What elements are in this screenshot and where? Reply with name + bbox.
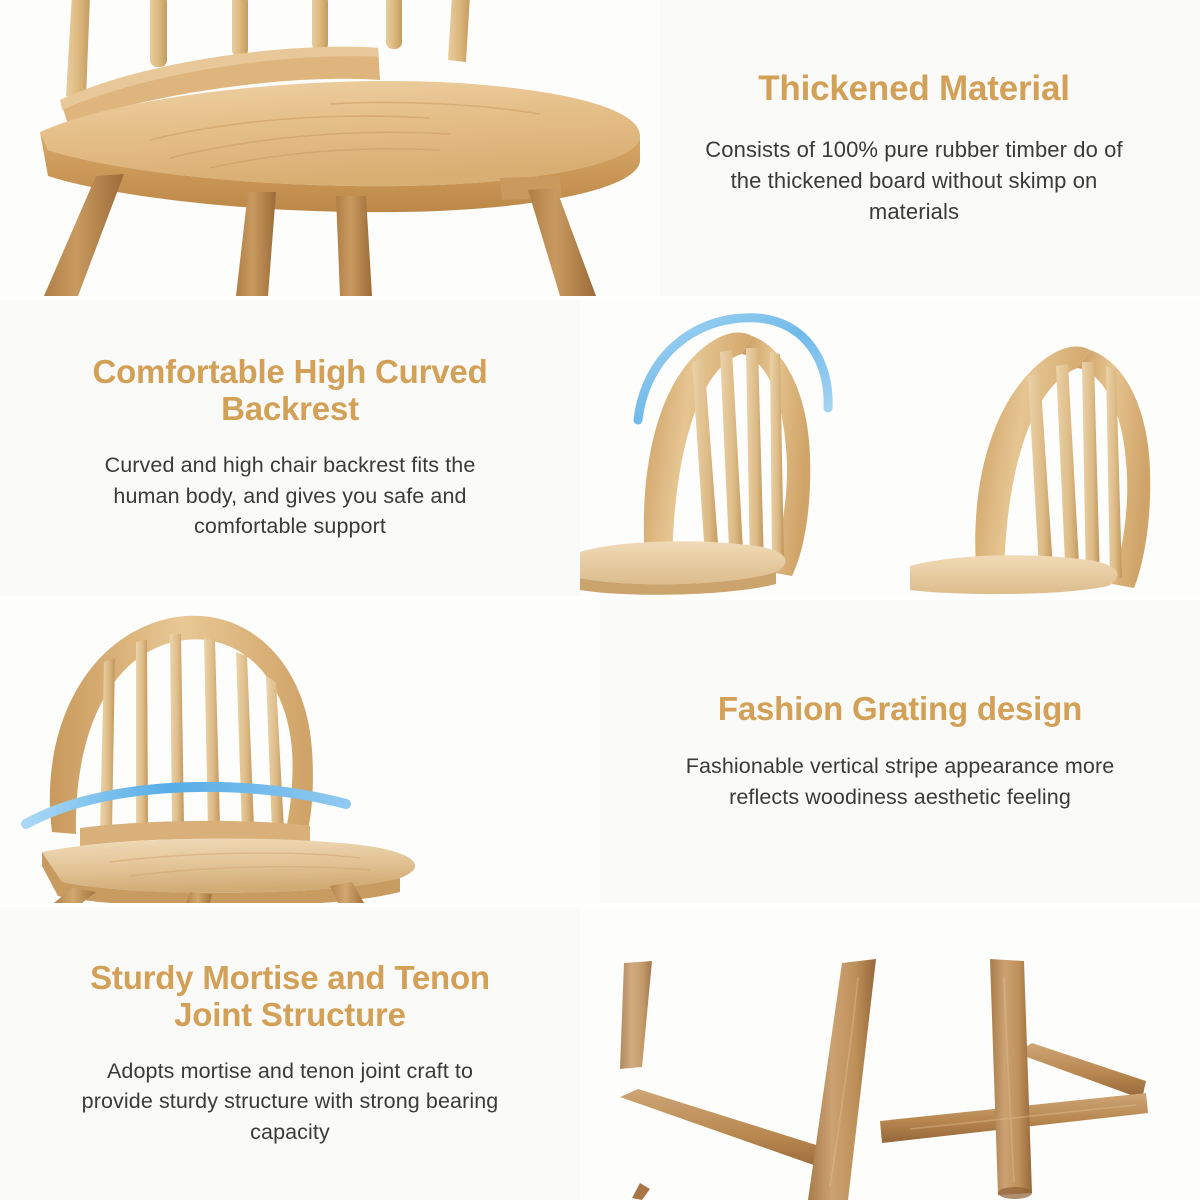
panel-4-headline: Sturdy Mortise and Tenon Joint Structure xyxy=(60,960,520,1034)
full-chair-illustration xyxy=(0,600,600,903)
curved-backrest-illustration xyxy=(580,300,1200,596)
panel-3-headline: Fashion Grating design xyxy=(718,691,1082,728)
leg-joint-closeup-illustration xyxy=(580,907,1200,1200)
panel-1-headline: Thickened Material xyxy=(758,69,1070,108)
panel-3-copy: Fashion Grating design Fashionable verti… xyxy=(600,691,1200,813)
panel-1-image xyxy=(0,0,660,296)
panel-1-copy: Thickened Material Consists of 100% pure… xyxy=(660,69,1200,228)
chair-seat-closeup-illustration xyxy=(0,0,660,296)
panel-4-copy: Sturdy Mortise and Tenon Joint Structure… xyxy=(0,960,580,1147)
leg-foot xyxy=(998,1187,1032,1199)
wood-scrap-fragment xyxy=(630,1182,652,1200)
panel-3-image xyxy=(0,600,600,903)
panel-3-body: Fashionable vertical stripe appearance m… xyxy=(685,751,1115,812)
panel-4-body: Adopts mortise and tenon joint craft to … xyxy=(75,1056,505,1148)
feature-panel-curved-backrest: Comfortable High Curved Backrest Curved … xyxy=(0,300,1200,596)
infographic-page: Thickened Material Consists of 100% pure… xyxy=(0,0,1200,1200)
panel-2-image xyxy=(580,300,1200,596)
feature-panel-thickened-material: Thickened Material Consists of 100% pure… xyxy=(0,0,1200,296)
panel-2-headline: Comfortable High Curved Backrest xyxy=(55,354,525,428)
feature-panel-mortise-tenon-joint: Sturdy Mortise and Tenon Joint Structure… xyxy=(0,907,1200,1200)
panel-2-copy: Comfortable High Curved Backrest Curved … xyxy=(0,354,580,541)
panel-1-body: Consists of 100% pure rubber timber do o… xyxy=(699,134,1129,228)
chair-seat xyxy=(42,838,415,892)
feature-panel-grating-design: Fashion Grating design Fashionable verti… xyxy=(0,600,1200,903)
seat-right xyxy=(910,555,1118,594)
panel-4-image xyxy=(580,907,1200,1200)
panel-2-body: Curved and high chair backrest fits the … xyxy=(75,450,505,542)
